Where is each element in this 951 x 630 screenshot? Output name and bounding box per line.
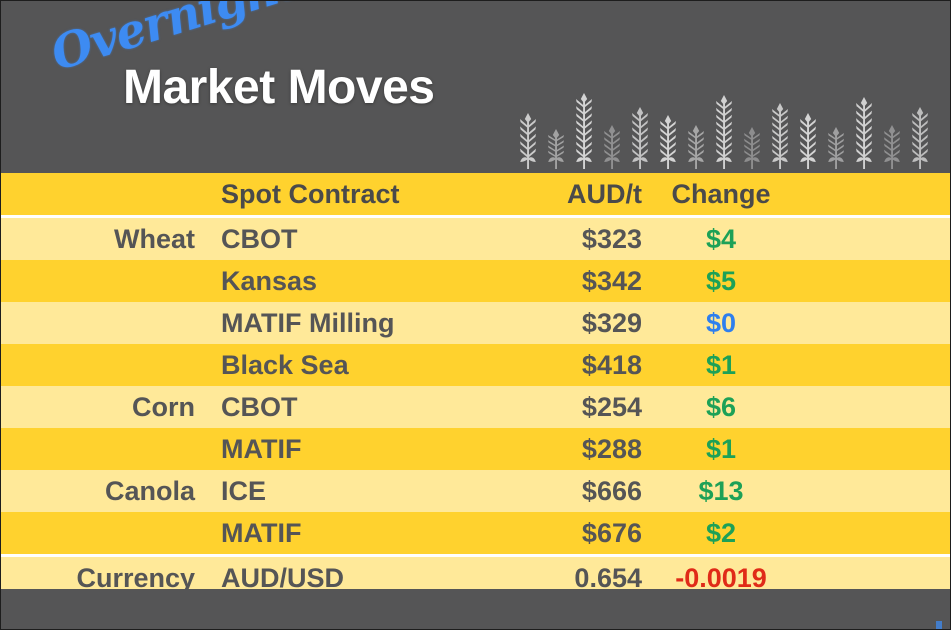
table-row: Kansas$342$5 bbox=[1, 260, 951, 302]
column-header-price: AUD/t bbox=[486, 179, 646, 210]
footer-accent-mark bbox=[936, 621, 942, 629]
table-row: Black Sea$418$1 bbox=[1, 344, 951, 386]
wheat-stalk-icon bbox=[882, 125, 902, 169]
cell-price: $323 bbox=[486, 224, 646, 255]
cell-change: $4 bbox=[646, 224, 796, 255]
table-row: MATIF Milling$329$0 bbox=[1, 302, 951, 344]
table-row: CornCBOT$254$6 bbox=[1, 386, 951, 428]
wheat-stalk-decoration bbox=[518, 79, 930, 169]
footer-bar bbox=[1, 589, 951, 629]
cell-change: $2 bbox=[646, 518, 796, 549]
cell-category: Wheat bbox=[1, 224, 201, 255]
cell-change: $5 bbox=[646, 266, 796, 297]
cell-change: $1 bbox=[646, 350, 796, 381]
wheat-stalk-icon bbox=[602, 125, 622, 169]
cell-price: $418 bbox=[486, 350, 646, 381]
cell-spot-contract: Black Sea bbox=[201, 350, 486, 381]
table-row: CanolaICE$666$13 bbox=[1, 470, 951, 512]
cell-spot-contract: ICE bbox=[201, 476, 486, 507]
cell-spot-contract: MATIF bbox=[201, 518, 486, 549]
column-header-change: Change bbox=[646, 179, 796, 210]
cell-price: $254 bbox=[486, 392, 646, 423]
cell-spot-contract: MATIF bbox=[201, 434, 486, 465]
cell-price: $666 bbox=[486, 476, 646, 507]
wheat-stalk-icon bbox=[854, 97, 874, 169]
header-banner: Market Moves Overnight bbox=[1, 1, 951, 173]
wheat-stalk-icon bbox=[910, 107, 930, 169]
wheat-stalk-icon bbox=[742, 127, 762, 169]
cell-spot-contract: Kansas bbox=[201, 266, 486, 297]
table-row: MATIF$676$2 bbox=[1, 512, 951, 554]
wheat-stalk-icon bbox=[714, 95, 734, 169]
cell-price: $676 bbox=[486, 518, 646, 549]
cell-spot-contract: CBOT bbox=[201, 224, 486, 255]
market-moves-graphic: Market Moves Overnight Spot Contract AUD… bbox=[0, 0, 951, 630]
title-block: Market Moves Overnight bbox=[45, 25, 515, 135]
page-title: Market Moves bbox=[123, 60, 434, 115]
wheat-stalk-icon bbox=[574, 93, 594, 169]
table-row: WheatCBOT$323$4 bbox=[1, 218, 951, 260]
cell-change: $6 bbox=[646, 392, 796, 423]
wheat-stalk-icon bbox=[546, 129, 566, 169]
wheat-stalk-icon bbox=[518, 113, 538, 169]
cell-category: Corn bbox=[1, 392, 201, 423]
cell-price: $342 bbox=[486, 266, 646, 297]
column-header-spot-contract: Spot Contract bbox=[201, 179, 486, 210]
wheat-stalk-icon bbox=[658, 115, 678, 169]
cell-change: $0 bbox=[646, 308, 796, 339]
wheat-stalk-icon bbox=[630, 107, 650, 169]
wheat-stalk-icon bbox=[826, 127, 846, 169]
cell-spot-contract: CBOT bbox=[201, 392, 486, 423]
cell-category: Canola bbox=[1, 476, 201, 507]
table-body: WheatCBOT$323$4Kansas$342$5MATIF Milling… bbox=[1, 218, 951, 599]
cell-price: $288 bbox=[486, 434, 646, 465]
wheat-stalk-icon bbox=[686, 125, 706, 169]
cell-price: $329 bbox=[486, 308, 646, 339]
market-table: Spot Contract AUD/t Change WheatCBOT$323… bbox=[1, 173, 951, 599]
table-row: MATIF$288$1 bbox=[1, 428, 951, 470]
cell-change: $1 bbox=[646, 434, 796, 465]
wheat-stalk-icon bbox=[798, 113, 818, 169]
table-header-row: Spot Contract AUD/t Change bbox=[1, 173, 951, 215]
cell-change: $13 bbox=[646, 476, 796, 507]
wheat-stalk-icon bbox=[770, 103, 790, 169]
cell-spot-contract: MATIF Milling bbox=[201, 308, 486, 339]
